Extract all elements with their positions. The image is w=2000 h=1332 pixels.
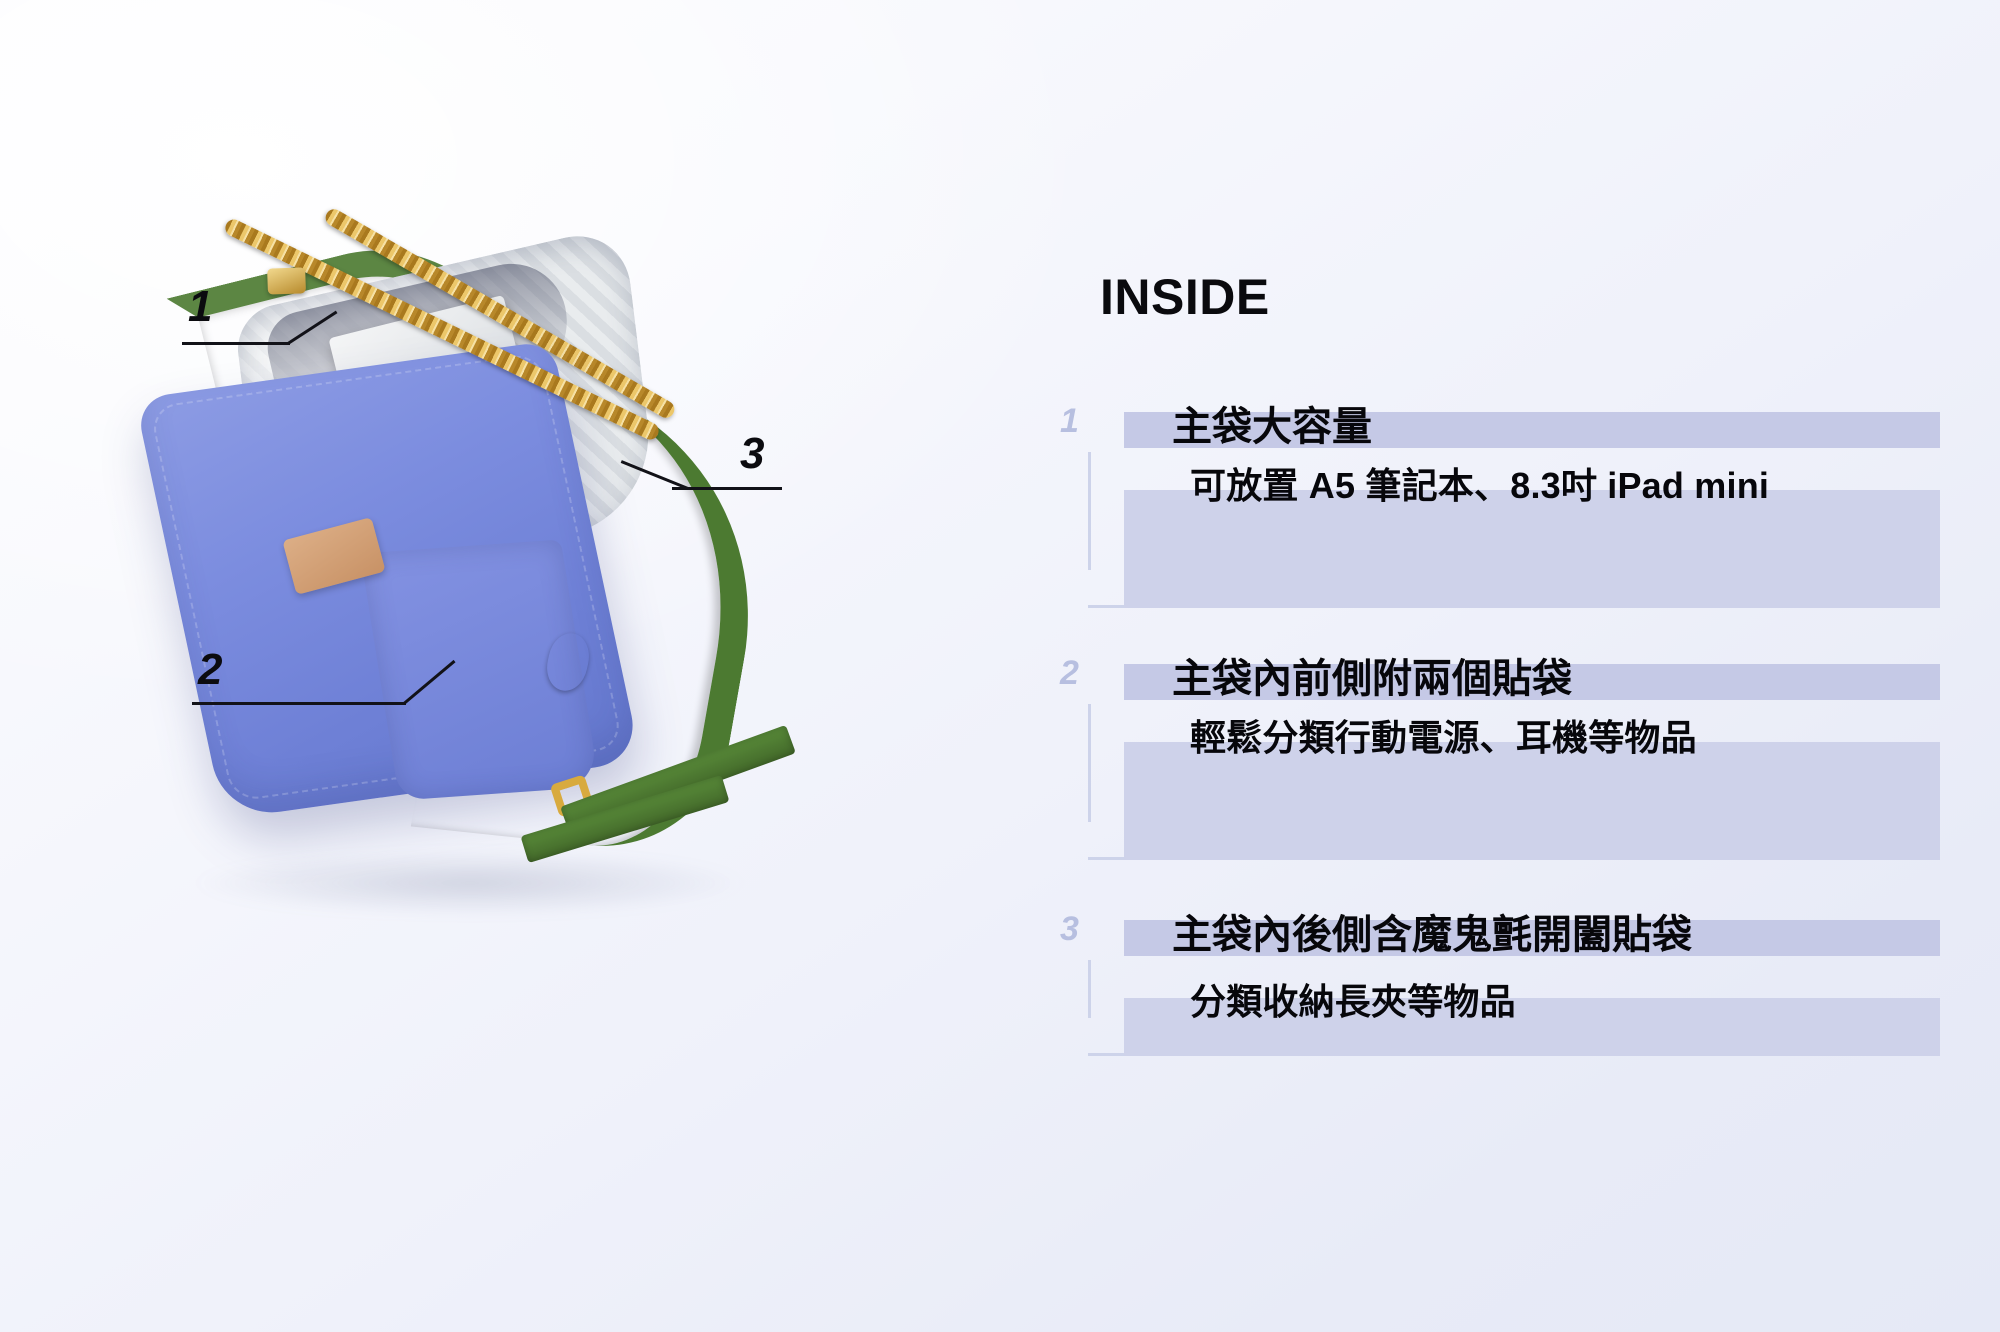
feature-heading-text: 主袋大容量 [1172,404,1372,450]
feature-description-band: 輕鬆分類行動電源、耳機等物品 [1124,742,1940,860]
feature-connector-bracket [1060,490,1124,608]
feature-index-number: 2 [1060,656,1124,700]
feature-index-number: 1 [1060,404,1124,448]
feature-item: 3 主袋內後側含魔鬼氈開闔貼袋 分類收納長夾等物品 [1060,912,1940,1056]
feature-description-text: 輕鬆分類行動電源、耳機等物品 [1190,712,1830,764]
inside-info-panel: INSIDE 1 主袋大容量 可放置 A5 筆記本、8.3吋 iPad mini… [1060,268,1940,1056]
feature-description-row: 可放置 A5 筆記本、8.3吋 iPad mini [1060,490,1940,608]
page-title: INSIDE [1100,268,1940,326]
feature-heading-text: 主袋內前側附兩個貼袋 [1172,656,1572,702]
feature-heading-row: 2 主袋內前側附兩個貼袋 [1060,656,1940,700]
feature-heading-band: 主袋內後側含魔鬼氈開闔貼袋 [1124,920,1940,956]
crossbody-bag-illustration [150,245,980,945]
feature-connector-bracket [1060,742,1124,860]
callout-number-1: 1 [188,285,213,329]
feature-heading-band: 主袋大容量 [1124,412,1940,448]
callout-number-2: 2 [198,648,223,692]
feature-heading-row: 1 主袋大容量 [1060,404,1940,448]
zipper-pull-icon [267,267,306,294]
feature-description-band: 分類收納長夾等物品 [1124,998,1940,1056]
feature-item: 2 主袋內前側附兩個貼袋 輕鬆分類行動電源、耳機等物品 [1060,656,1940,860]
callout-leader-line-1 [182,342,290,345]
feature-index-number: 3 [1060,912,1124,956]
feature-description-row: 輕鬆分類行動電源、耳機等物品 [1060,742,1940,860]
feature-description-text: 分類收納長夾等物品 [1190,976,1830,1028]
feature-heading-text: 主袋內後側含魔鬼氈開闔貼袋 [1172,912,1692,958]
feature-connector-bracket [1060,998,1124,1056]
callout-number-3: 3 [740,432,765,476]
product-photo: 1 2 3 [0,0,1050,1332]
callout-leader-line-2 [192,702,406,705]
feature-description-band: 可放置 A5 筆記本、8.3吋 iPad mini [1124,490,1940,608]
callout-leader-line-3 [672,487,782,490]
feature-item: 1 主袋大容量 可放置 A5 筆記本、8.3吋 iPad mini [1060,404,1940,608]
feature-description-text: 可放置 A5 筆記本、8.3吋 iPad mini [1190,460,1830,512]
feature-heading-band: 主袋內前側附兩個貼袋 [1124,664,1940,700]
feature-description-row: 分類收納長夾等物品 [1060,998,1940,1056]
feature-heading-row: 3 主袋內後側含魔鬼氈開闔貼袋 [1060,912,1940,956]
inside-feature-slide: 1 2 3 INSIDE 1 主袋大容量 [0,0,2000,1332]
